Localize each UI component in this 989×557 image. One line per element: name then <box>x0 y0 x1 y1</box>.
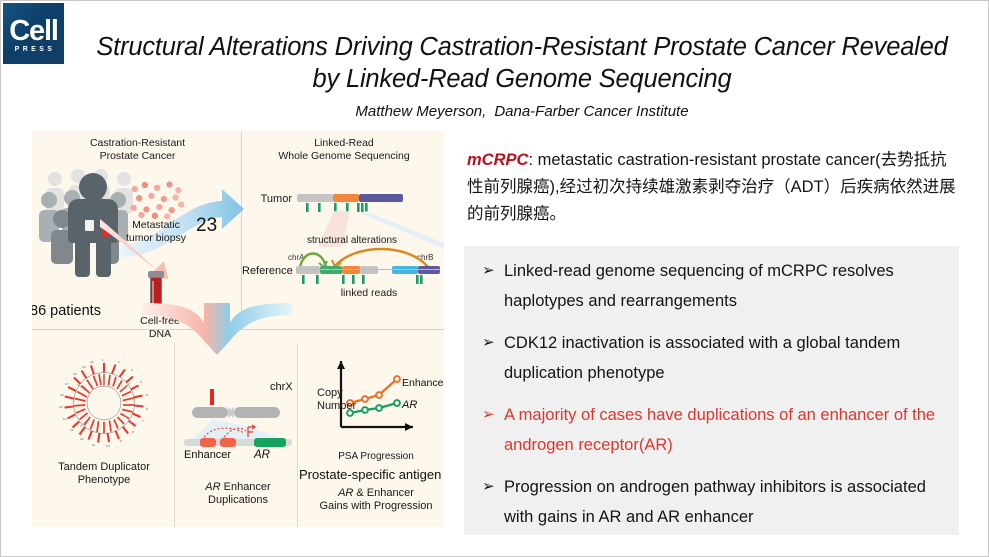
chrX-label: chrX <box>270 381 293 393</box>
logo-press-text: PRESS <box>15 46 56 53</box>
copy-number-axis-line1: Copy <box>317 387 351 400</box>
patients-count-label: 86 patients <box>32 303 101 319</box>
lrwgs-heading: Linked-Read Whole Genome Sequencing <box>248 137 440 162</box>
reference-track-label: Reference <box>242 265 292 278</box>
finding-bullet-1: ➢ Linked-read genome sequencing of mCRPC… <box>482 256 944 316</box>
svg-text:6: 6 <box>146 407 148 411</box>
mcrpc-definition: mCRPC: metastatic castration-resistant p… <box>467 147 959 228</box>
bullet-marker-icon-4: ➢ <box>482 472 504 532</box>
ref-segment-cyan <box>392 266 418 274</box>
ar-enhancer-dup-caption-line1: AR Enhancer <box>180 481 296 494</box>
ar-enhancer-dup-caption: AR Enhancer Duplications <box>180 481 296 507</box>
mcrpc-term: mCRPC <box>467 151 528 169</box>
panel-transition-arrow-down <box>142 299 292 355</box>
svg-text:1: 1 <box>102 358 104 362</box>
ref-segment-green <box>320 266 342 274</box>
ar-enhancer-gains-caption-line2: Gains with Progression <box>314 500 438 513</box>
svg-text:10: 10 <box>106 444 110 448</box>
figure-divider-vertical-bottom-left <box>174 343 175 527</box>
ar-enhancer-gains-rest: & Enhancer <box>353 487 414 499</box>
svg-text:8: 8 <box>132 430 134 434</box>
copy-number-axis-label: Copy Number <box>317 387 351 413</box>
ar-series-label: AR <box>402 399 417 411</box>
finding-bullet-3: ➢ A majority of cases have duplications … <box>482 400 944 460</box>
tandem-duplicator-caption-line2: Phenotype <box>48 474 160 487</box>
svg-text:17: 17 <box>65 382 69 386</box>
copy-number-axis-line2: Number <box>317 400 351 413</box>
cell-press-logo: Cell PRESS <box>3 3 64 64</box>
cfdna-arrow <box>98 217 172 279</box>
ref-segment-orange <box>342 266 360 274</box>
ar-series-line <box>350 403 397 413</box>
slide-canvas: Cell PRESS Structural Alterations Drivin… <box>0 0 989 557</box>
author-affiliation-line: Matthew Meyerson,Dana-Farber Cancer Inst… <box>67 103 977 120</box>
y-axis-arrow <box>337 361 345 369</box>
svg-text:2: 2 <box>118 360 120 364</box>
ar-italic-2: AR <box>338 487 353 499</box>
ref-segment-grey-1 <box>296 266 320 274</box>
bullet-marker-icon-1: ➢ <box>482 256 504 316</box>
svg-text:9: 9 <box>120 439 122 443</box>
svg-text:3: 3 <box>131 368 133 372</box>
finding-text-3: A majority of cases have duplications of… <box>504 400 944 460</box>
enhancer-label: Enhancer <box>184 449 231 461</box>
x-axis-arrow <box>405 423 413 431</box>
title-block: Structural Alterations Driving Castratio… <box>67 31 977 120</box>
finding-bullet-4: ➢ Progression on androgen pathway inhibi… <box>482 472 944 532</box>
author-affiliation: Dana-Farber Cancer Institute <box>494 103 688 120</box>
tumor-segment-orange <box>333 194 359 202</box>
reference-linked-read-ticks <box>294 275 444 285</box>
ref-segment-grey-2 <box>360 266 378 274</box>
ar-gene-label: AR <box>254 449 270 461</box>
tumor-segment-purple <box>359 194 403 202</box>
ar-enhancer-rest: Enhancer <box>221 481 271 493</box>
svg-text:5: 5 <box>146 393 148 397</box>
circos-tandem-duplication-plot: 1 23 45 67 89 1011 1213 1415 1617 1819 2… <box>58 357 150 449</box>
ar-enhancer-dup-caption-line2: Duplications <box>180 494 296 507</box>
lrwgs-heading-line1: Linked-Read <box>248 137 440 150</box>
tumor-segment-grey <box>297 194 333 202</box>
finding-bullet-2: ➢ CDK12 inactivation is associated with … <box>482 328 944 388</box>
ar-enhancer-gains-caption: AR & Enhancer Gains with Progression <box>314 487 438 513</box>
svg-text:7: 7 <box>142 419 144 423</box>
linked-reads-label: linked reads <box>294 287 444 300</box>
ar-enhancer-gains-caption-line1: AR & Enhancer <box>314 487 438 500</box>
svg-text:18: 18 <box>73 372 77 376</box>
logo-cell-text: Cell <box>9 17 57 45</box>
ar-italic: AR <box>205 481 220 493</box>
crpc-heading: Castration-Resistant Prostate Cancer <box>60 137 215 162</box>
lrwgs-heading-line2: Whole Genome Sequencing <box>248 150 440 163</box>
bullet-marker-icon-2: ➢ <box>482 328 504 388</box>
author-name: Matthew Meyerson, <box>355 103 486 120</box>
finding-text-2: CDK12 inactivation is associated with a … <box>504 328 944 388</box>
crpc-heading-line1: Castration-Resistant <box>60 137 215 150</box>
psa-progression-axis-label: PSA Progression <box>318 451 434 464</box>
graphical-abstract-figure: Castration-Resistant Prostate Cancer <box>32 131 444 527</box>
svg-text:13: 13 <box>70 428 74 432</box>
tandem-duplicator-caption: Tandem Duplicator Phenotype <box>48 461 160 487</box>
tandem-duplicator-caption-line1: Tandem Duplicator <box>48 461 160 474</box>
key-findings-box: ➢ Linked-read genome sequencing of mCRPC… <box>464 246 959 535</box>
finding-text-4: Progression on androgen pathway inhibito… <box>504 472 944 532</box>
psa-expansion-label: Prostate-specific antigen <box>299 467 441 482</box>
biopsy-count: 23 <box>196 215 217 237</box>
finding-text-1: Linked-read genome sequencing of mCRPC r… <box>504 256 944 316</box>
figure-divider-vertical-bottom-right <box>297 343 298 527</box>
title-line-1: Structural Alterations Driving Castratio… <box>67 31 977 63</box>
enhancer-series-line <box>350 379 397 403</box>
svg-text:19: 19 <box>82 365 86 369</box>
svg-text:20: 20 <box>90 360 94 364</box>
linked-read-baseline <box>296 269 440 270</box>
bullet-marker-icon-3: ➢ <box>482 400 504 460</box>
svg-text:12: 12 <box>80 437 84 441</box>
tumor-track-label: Tumor <box>248 193 292 206</box>
title-line-2: by Linked-Read Genome Sequencing <box>67 63 977 95</box>
ref-segment-purple <box>418 266 440 274</box>
svg-text:4: 4 <box>140 380 142 384</box>
mcrpc-definition-text: : metastatic castration-resistant prosta… <box>467 151 956 223</box>
svg-text:11: 11 <box>92 443 95 447</box>
svg-text:15: 15 <box>59 405 63 409</box>
svg-text:16: 16 <box>60 393 64 397</box>
crpc-heading-line2: Prostate Cancer <box>60 150 215 163</box>
enhancer-series-label: Enhancer <box>402 377 444 389</box>
svg-text:14: 14 <box>63 417 67 421</box>
